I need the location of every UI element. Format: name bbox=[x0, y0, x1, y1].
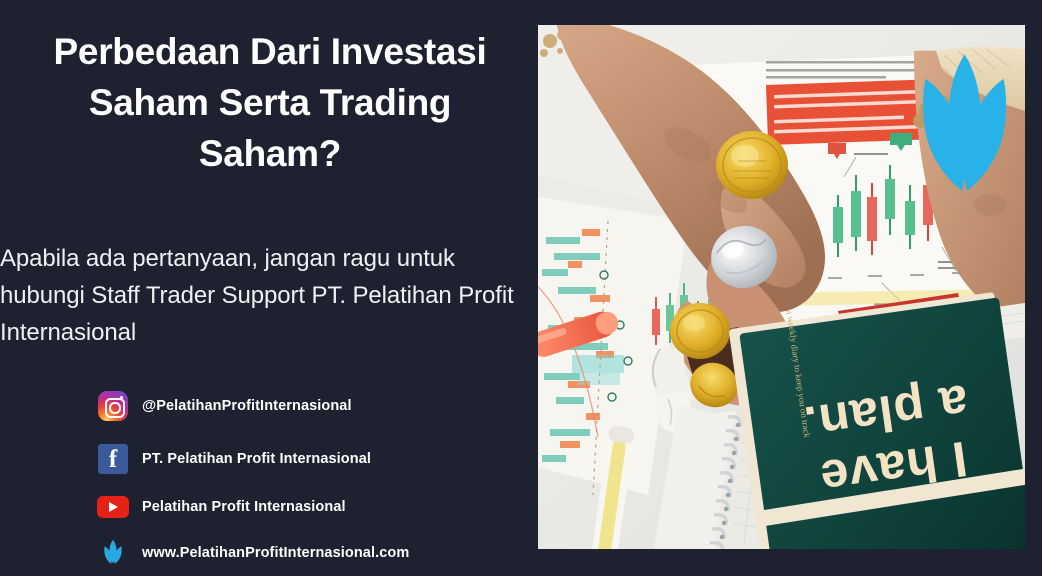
youtube-channel-name: Pelatihan Profit Internasional bbox=[142, 499, 346, 515]
social-links-list: @PelatihanProfitInternasional f PT. Pela… bbox=[97, 382, 527, 576]
youtube-icon bbox=[97, 496, 129, 518]
page-title: Perbedaan Dari Investasi Saham Serta Tra… bbox=[14, 26, 526, 179]
website-url: www.PelatihanProfitInternasional.com bbox=[142, 545, 409, 561]
social-row-facebook[interactable]: f PT. Pelatihan Profit Internasional bbox=[97, 435, 527, 483]
subtitle-text: Apabila ada pertanyaan, jangan ragu untu… bbox=[0, 240, 540, 351]
lotus-logo-icon bbox=[97, 537, 129, 569]
text-panel: Perbedaan Dari Investasi Saham Serta Tra… bbox=[0, 0, 538, 576]
facebook-icon: f bbox=[97, 443, 129, 475]
instagram-handle: @PelatihanProfitInternasional bbox=[142, 398, 352, 414]
social-row-youtube[interactable]: Pelatihan Profit Internasional bbox=[97, 488, 527, 526]
instagram-icon bbox=[97, 390, 129, 422]
social-row-instagram[interactable]: @PelatihanProfitInternasional bbox=[97, 382, 527, 430]
facebook-page-name: PT. Pelatihan Profit Internasional bbox=[142, 451, 371, 467]
trading-desk-photo: I have a plan. a weekly diary to keep yo… bbox=[538, 25, 1025, 549]
social-row-website[interactable]: www.PelatihanProfitInternasional.com bbox=[97, 531, 527, 575]
